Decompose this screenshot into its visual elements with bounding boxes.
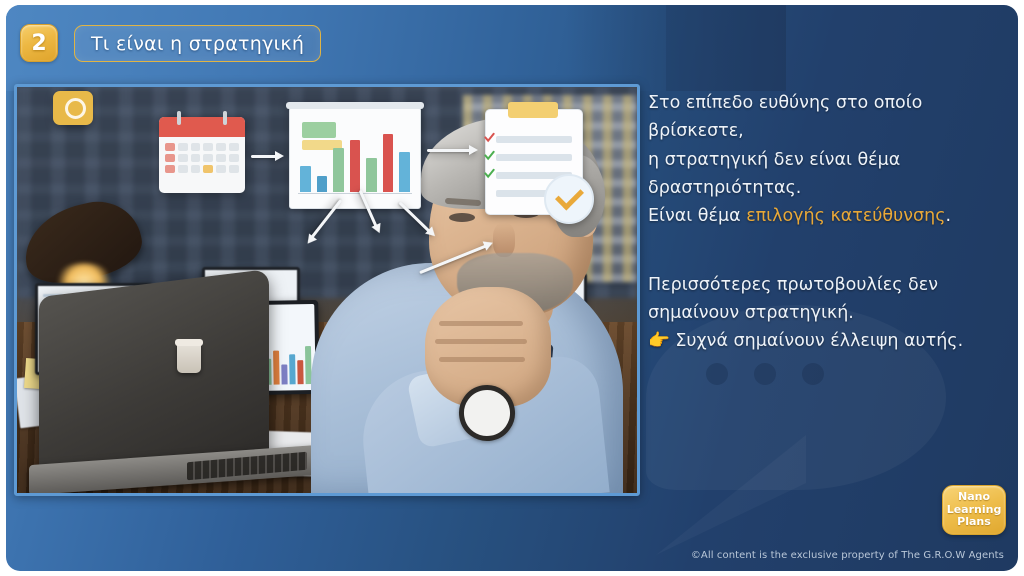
coffee-cup bbox=[177, 343, 201, 373]
p2-line2: σημαίνουν στρατηγική. bbox=[648, 303, 854, 323]
bar-chart-icon bbox=[289, 107, 421, 209]
slide-root: 2 Τι είναι η στρατηγική bbox=[6, 5, 1018, 571]
calendar-icon bbox=[159, 117, 245, 193]
approval-check-badge bbox=[544, 174, 594, 224]
checklist-icon bbox=[485, 109, 583, 215]
p1-line5-prefix: Είναι θέμα bbox=[648, 206, 746, 226]
p1-line3: η στρατηγική δεν είναι θέμα bbox=[648, 150, 900, 170]
badge-line-3: Plans bbox=[957, 516, 991, 529]
person-nose bbox=[493, 223, 515, 257]
p2-line3: Συχνά σημαίνουν έλλειψη αυτής. bbox=[675, 331, 963, 351]
check-icon bbox=[484, 132, 495, 143]
p1-line5-suffix: . bbox=[945, 206, 951, 226]
content-column: Στο επίπεδο ευθύνης στο οποίο βρίσκεστε,… bbox=[648, 89, 1008, 364]
nano-learning-plans-badge: Nano Learning Plans bbox=[942, 485, 1006, 535]
logo-icon bbox=[53, 91, 93, 125]
p1-line1: Στο επίπεδο ευθύνης στο οποίο bbox=[648, 93, 922, 113]
page-title: Τι είναι η στρατηγική bbox=[91, 33, 304, 55]
pointing-hand-icon: 👉 bbox=[648, 331, 670, 351]
check-icon bbox=[484, 150, 495, 161]
highlighted-phrase: επιλογής κατεύθυνσης bbox=[746, 206, 945, 226]
slide-title-box: Τι είναι η στρατηγική bbox=[74, 25, 321, 62]
copyright-notice: ©All content is the exclusive property o… bbox=[691, 550, 1004, 561]
badge-line-1: Nano bbox=[958, 491, 990, 504]
step-number-badge: 2 bbox=[20, 24, 58, 62]
p1-line2: βρίσκεστε, bbox=[648, 121, 744, 141]
speech-bubble-tail bbox=[656, 435, 806, 555]
paragraph-one: Στο επίπεδο ευθύνης στο οποίο βρίσκεστε,… bbox=[648, 89, 1008, 231]
paragraph-two: Περισσότερες πρωτοβουλίες δεν σημαίνουν … bbox=[648, 271, 1008, 356]
slide-header: 2 Τι είναι η στρατηγική bbox=[6, 5, 1018, 91]
arrow-icon bbox=[427, 149, 475, 152]
slide-photo bbox=[14, 84, 640, 496]
p2-line1: Περισσότερες πρωτοβουλίες δεν bbox=[648, 275, 938, 295]
watermark-dots bbox=[706, 363, 824, 385]
p1-line4: δραστηριότητας. bbox=[648, 178, 801, 198]
arrow-icon bbox=[251, 155, 281, 158]
check-icon bbox=[484, 168, 495, 179]
photo-scene bbox=[17, 87, 637, 493]
